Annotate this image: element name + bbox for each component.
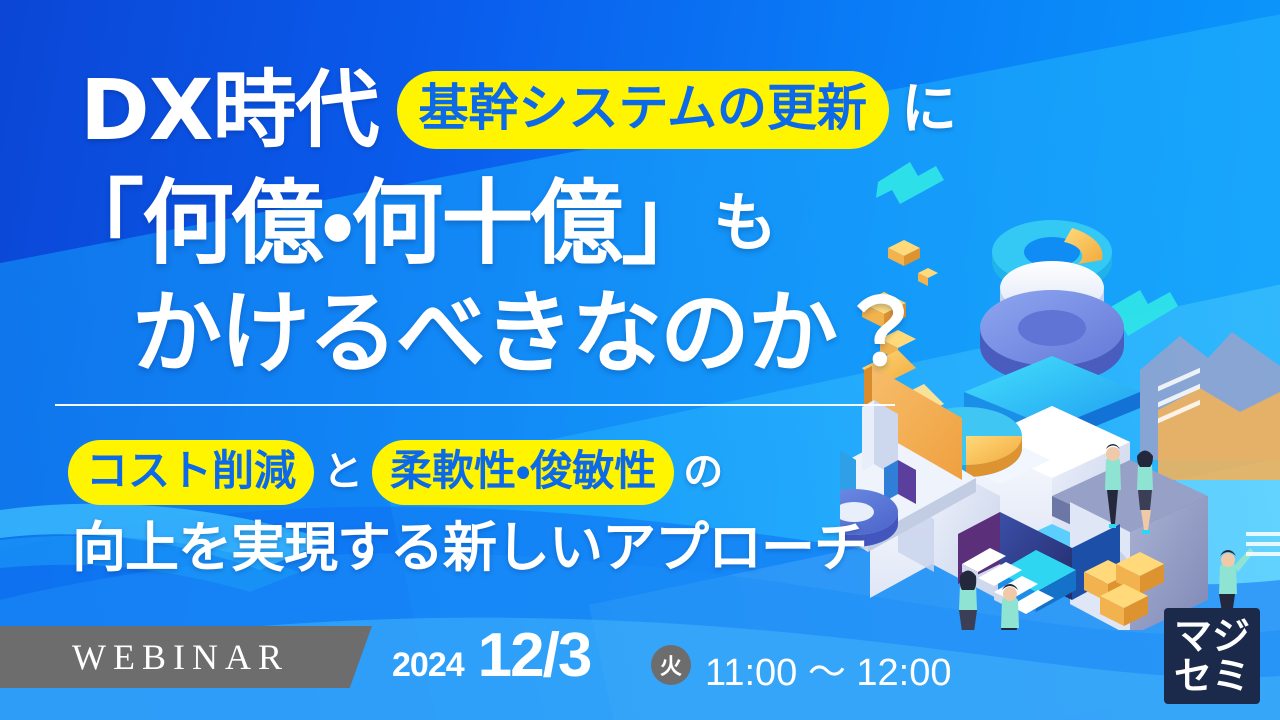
headline-pill-core-system: 基幹システムの更新 <box>397 71 890 149</box>
subtitle-connector-to: と <box>323 450 363 494</box>
horizontal-divider <box>55 404 895 406</box>
event-time-range: 11:00 〜 12:00 <box>705 641 951 696</box>
subtitle-line-2: 向上を実現する新しいアプローチ <box>72 513 867 583</box>
headline-question: かけるべきなのか？ <box>132 286 924 382</box>
event-date: 12/3 <box>478 620 591 691</box>
day-of-week-badge: 火 <box>651 645 691 685</box>
headline-particle-mo: も <box>713 190 777 258</box>
webinar-label-bar: WEBINAR <box>0 626 372 688</box>
subtitle-pill-cost-reduction: コスト削減 <box>68 440 314 505</box>
subtitle-new-approach: 向上を実現する新しいアプローチ <box>72 519 867 577</box>
headline-line-1: DX時代 基幹システムの更新 に <box>80 62 957 158</box>
subtitle-pill-flexibility-agility: 柔軟性・俊敏性 <box>372 440 674 505</box>
logo-line-1: マジ <box>1174 616 1250 656</box>
isometric-illustration <box>840 160 1280 630</box>
webinar-label: WEBINAR <box>72 636 289 678</box>
headline-dx-era: DX時代 <box>80 66 379 154</box>
headline-line-2: 「何億・何十億」 も <box>52 172 777 276</box>
headline-line-3: かけるべきなのか？ <box>132 282 924 386</box>
subtitle-line-1: コスト削減 と 柔軟性・俊敏性 の <box>68 437 732 507</box>
subtitle-connector-no: の <box>683 450 723 494</box>
logo-line-2: セミ <box>1174 656 1250 696</box>
majisemi-logo[interactable]: マジ セミ <box>1164 608 1260 704</box>
webinar-banner: DX時代 基幹システムの更新 に 「何億・何十億」 も かけるべきなのか？ コス… <box>0 0 1280 720</box>
event-date-block: 2024 12/3 <box>392 620 590 691</box>
headline-amount-quote: 「何億・何十億」 <box>52 175 711 273</box>
headline-particle-ni: に <box>901 80 957 140</box>
event-year: 2024 <box>392 646 464 685</box>
